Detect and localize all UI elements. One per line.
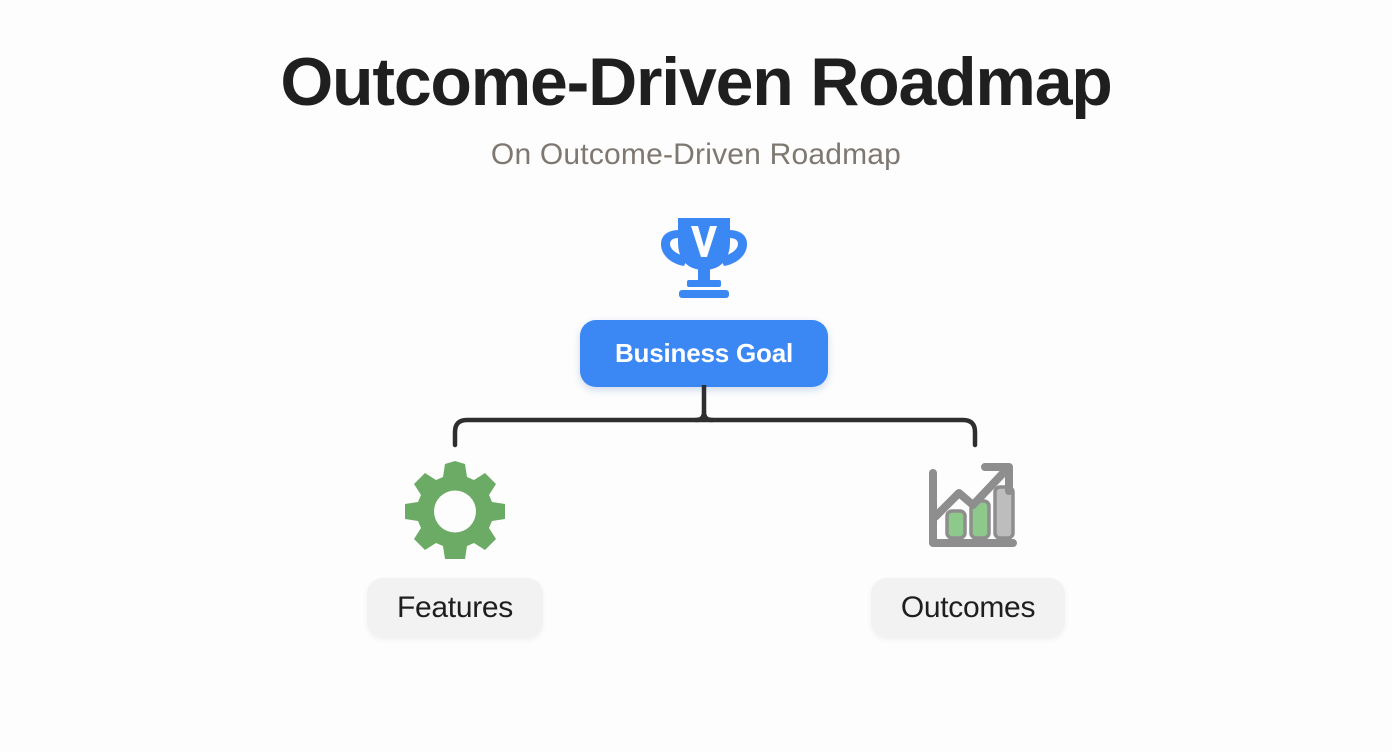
node-business-goal[interactable]: Business Goal bbox=[580, 320, 828, 387]
chip-outcomes[interactable]: Outcomes bbox=[871, 578, 1065, 638]
chip-outcomes-label: Outcomes bbox=[901, 591, 1035, 624]
chip-features[interactable]: Features bbox=[367, 578, 543, 638]
node-outcomes[interactable]: Outcomes bbox=[818, 455, 1118, 638]
trophy-icon bbox=[657, 212, 751, 302]
outcome-driven-roadmap-diagram: Business Goal Features bbox=[0, 0, 1392, 752]
node-features[interactable]: Features bbox=[305, 455, 605, 638]
slide-canvas: Outcome-Driven Roadmap On Outcome-Driven… bbox=[0, 0, 1392, 752]
gear-icon bbox=[400, 455, 510, 560]
growth-bar-chart-icon bbox=[913, 455, 1023, 560]
chip-features-label: Features bbox=[397, 591, 513, 624]
node-business-goal-label: Business Goal bbox=[615, 338, 793, 369]
